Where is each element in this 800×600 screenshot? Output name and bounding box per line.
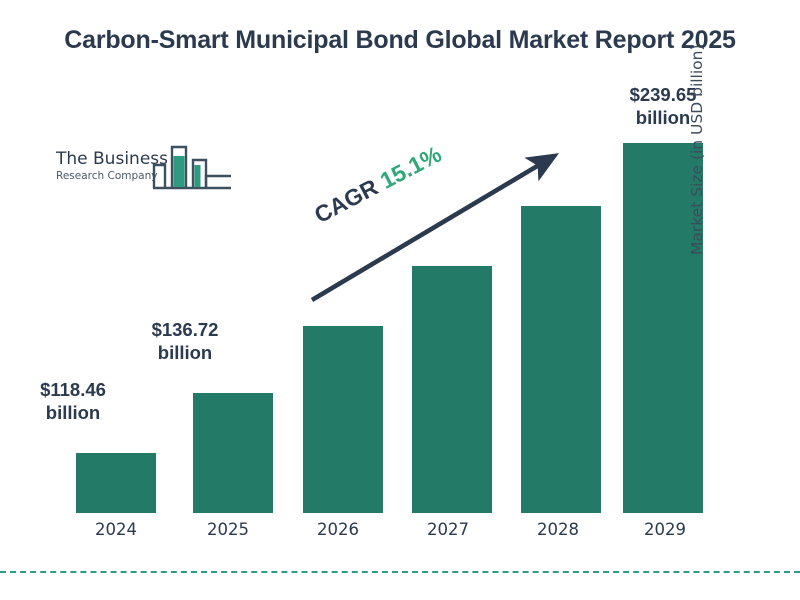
bar-value-2025: $136.72 billion: [105, 318, 265, 365]
bar-value-2024-amount: $118.46: [0, 378, 153, 401]
bar-chart-plot: $118.46 billion $136.72 billion $239.65 …: [0, 0, 800, 600]
bar-value-2029-amount: $239.65: [583, 83, 743, 106]
chart-page: Carbon-Smart Municipal Bond Global Marke…: [0, 0, 800, 600]
bar-2025: [193, 393, 273, 513]
x-tick-2024: 2024: [76, 520, 156, 539]
x-tick-2027: 2027: [408, 520, 488, 539]
bar-2026: [303, 326, 383, 513]
bar-value-2025-amount: $136.72: [105, 318, 265, 341]
bar-value-2024: $118.46 billion: [0, 378, 153, 425]
footer-divider: [0, 571, 800, 573]
x-tick-2029: 2029: [625, 520, 705, 539]
bar-value-2025-unit: billion: [105, 341, 265, 364]
x-tick-2025: 2025: [188, 520, 268, 539]
x-tick-2028: 2028: [518, 520, 598, 539]
x-tick-2026: 2026: [298, 520, 378, 539]
bar-2024: [76, 453, 156, 513]
bar-value-2029: $239.65 billion: [583, 83, 743, 130]
y-axis-title: Market Size (in USD billion): [688, 0, 712, 255]
bar-value-2029-unit: billion: [583, 106, 743, 129]
bar-value-2024-unit: billion: [0, 401, 153, 424]
